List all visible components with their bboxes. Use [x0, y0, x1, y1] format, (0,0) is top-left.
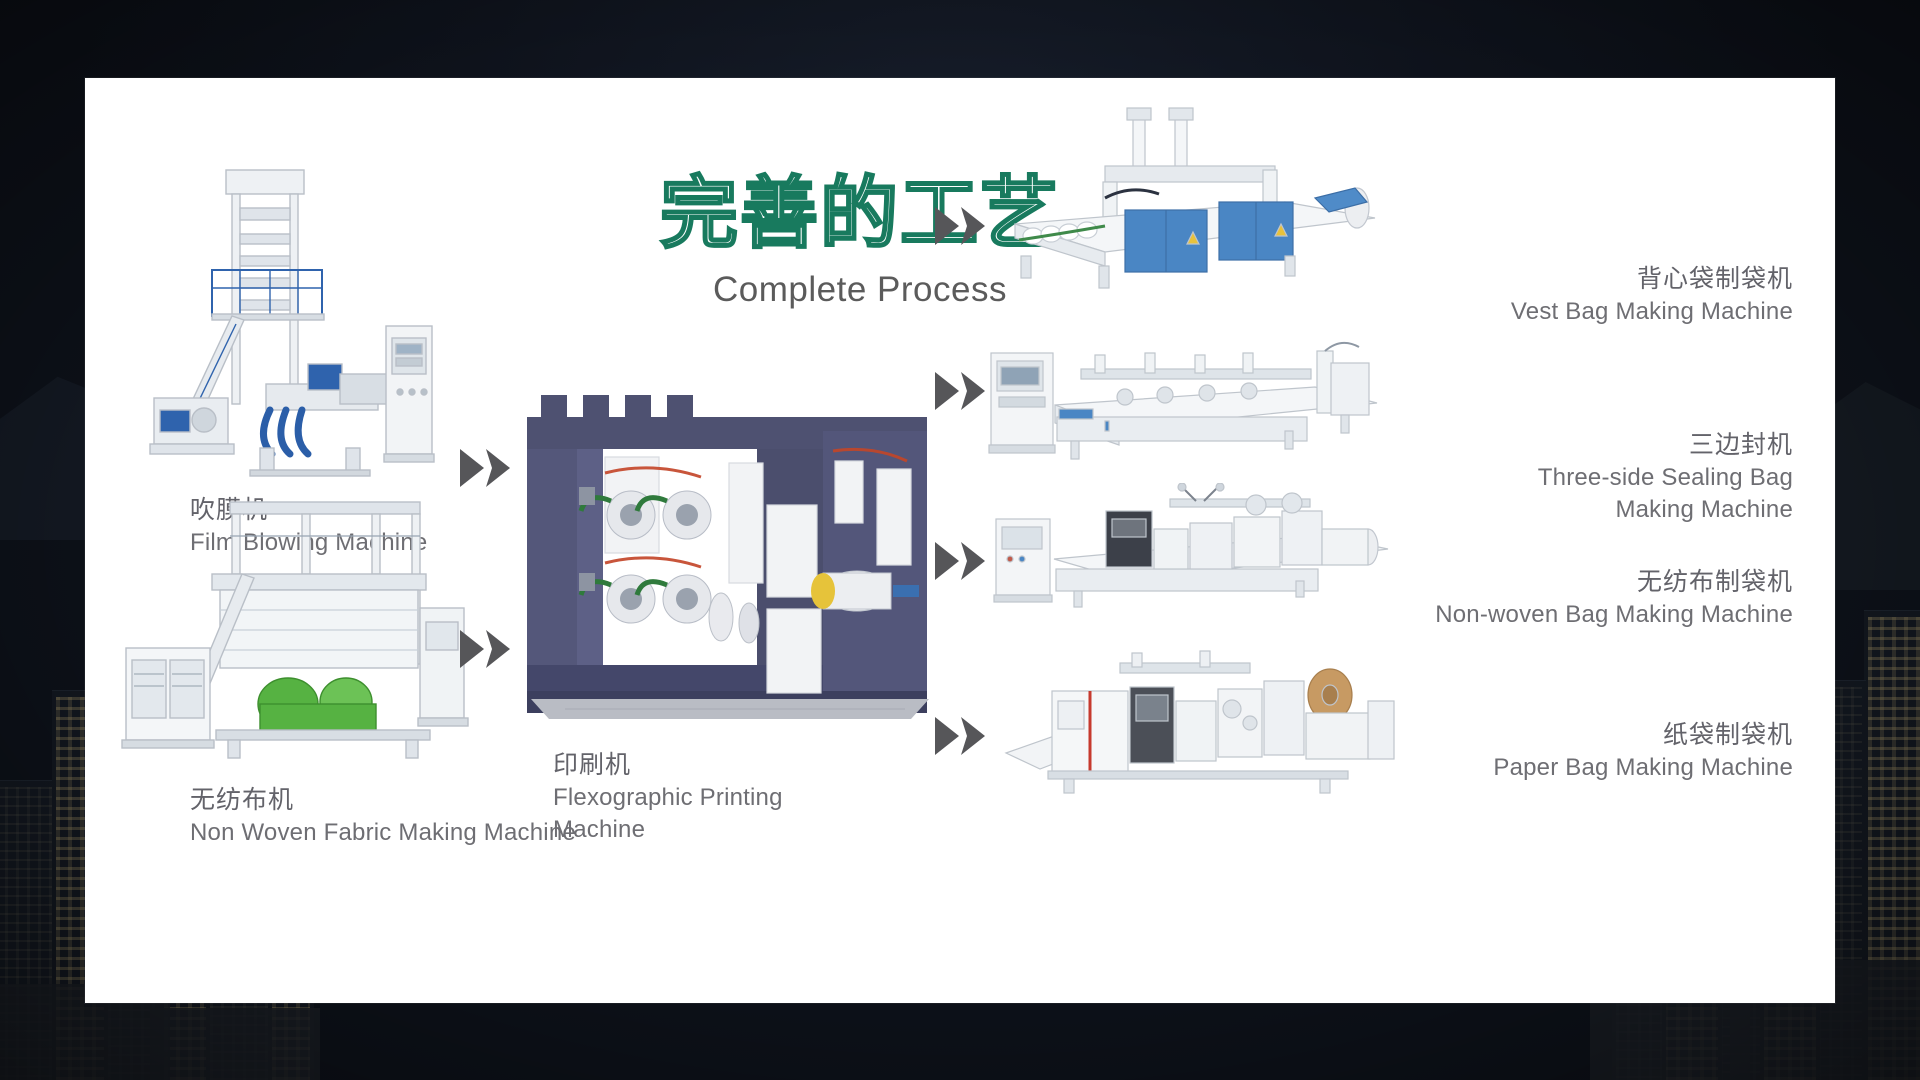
caption-non-woven-bag-cn: 无纺布制袋机: [1233, 565, 1793, 599]
caption-vest-bag-en: Vest Bag Making Machine: [1273, 296, 1793, 328]
arrow-to-paper-bag: [933, 713, 989, 759]
content-card: 完善的工艺 Complete Process: [85, 78, 1835, 1003]
caption-printing-en-line2: Machine: [553, 814, 783, 846]
film-blowing-machine-image: [140, 148, 440, 478]
caption-paper-bag-en: Paper Bag Making Machine: [1273, 752, 1793, 784]
caption-non-woven-bag-en: Non-woven Bag Making Machine: [1233, 599, 1793, 631]
caption-non-woven-fabric: 无纺布机 Non Woven Fabric Making Machine: [190, 783, 576, 849]
arrow-to-vest-bag: [933, 203, 989, 249]
caption-printing: 印刷机 Flexographic Printing Machine: [553, 748, 783, 846]
caption-three-side-cn: 三边封机: [1273, 428, 1793, 462]
caption-paper-bag: 纸袋制袋机 Paper Bag Making Machine: [1273, 718, 1793, 784]
arrow-to-non-woven-bag: [933, 538, 989, 584]
caption-printing-cn: 印刷机: [553, 748, 783, 782]
caption-non-woven-fabric-cn: 无纺布机: [190, 783, 576, 817]
caption-non-woven-bag: 无纺布制袋机 Non-woven Bag Making Machine: [1233, 565, 1793, 631]
caption-non-woven-fabric-en: Non Woven Fabric Making Machine: [190, 817, 576, 849]
non-woven-fabric-machine-image: [120, 478, 470, 773]
arrow-to-three-side: [933, 368, 989, 414]
caption-printing-en-line1: Flexographic Printing: [553, 782, 783, 814]
caption-vest-bag: 背心袋制袋机 Vest Bag Making Machine: [1273, 262, 1793, 328]
caption-vest-bag-cn: 背心袋制袋机: [1273, 262, 1793, 296]
flexographic-printing-machine-image: [505, 373, 955, 733]
caption-paper-bag-cn: 纸袋制袋机: [1273, 718, 1793, 752]
